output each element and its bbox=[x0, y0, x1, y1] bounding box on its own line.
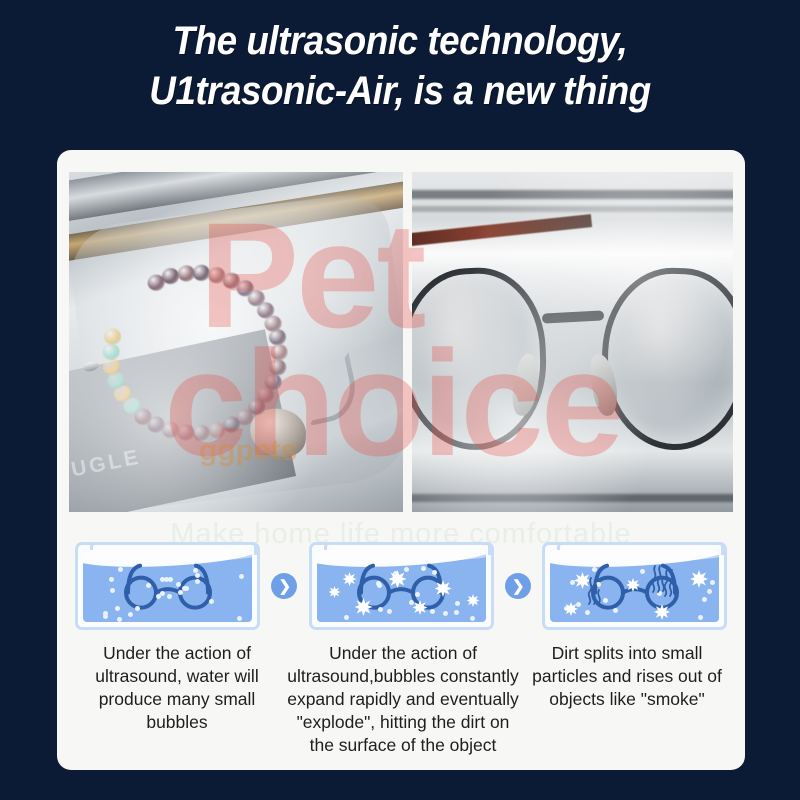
bracelet-bead bbox=[192, 424, 211, 442]
bubble-dot bbox=[195, 573, 200, 578]
caption-step-2: Under the action of ultrasound,bubbles c… bbox=[283, 642, 523, 757]
process-diagram-row: ❯ ❯ bbox=[75, 540, 727, 632]
diagram-tank-water-3 bbox=[550, 550, 719, 622]
bubble-dot bbox=[640, 569, 645, 574]
water-dark-band-2 bbox=[412, 206, 733, 212]
bubble-dot bbox=[115, 606, 120, 611]
photo-glasses-in-water bbox=[412, 172, 733, 512]
bubble-dot bbox=[128, 612, 133, 617]
bracelet-charm bbox=[249, 408, 307, 458]
smoke-wave-icon bbox=[586, 576, 602, 606]
beaded-bracelet bbox=[87, 249, 322, 470]
chevron-right-icon-1: ❯ bbox=[271, 573, 297, 599]
diagram-step-1-figure bbox=[75, 542, 260, 630]
water-dark-band-bottom bbox=[412, 494, 733, 502]
bubble-dot bbox=[585, 610, 590, 615]
bubble-dot bbox=[404, 567, 409, 572]
bracelet-bead bbox=[101, 343, 120, 361]
diagram-step-2-figure bbox=[309, 542, 494, 630]
bubble-dot bbox=[168, 577, 173, 582]
eyeglasses bbox=[412, 268, 733, 478]
exploding-bubble-icon bbox=[467, 594, 480, 607]
caption-step-3: Dirt splits into small particles and ris… bbox=[523, 642, 731, 711]
glasses-lens-right bbox=[599, 266, 733, 453]
bubble-dot bbox=[344, 615, 349, 620]
bubble-dot bbox=[110, 588, 115, 593]
exploding-bubble-icon bbox=[329, 586, 341, 598]
bubble-dot bbox=[117, 617, 122, 622]
product-poster: The ultrasonic technology, U1trasonic-Ai… bbox=[0, 0, 800, 800]
bubble-dot bbox=[707, 589, 712, 594]
chevron-right-icon-2: ❯ bbox=[505, 573, 531, 599]
photo-bracelet-in-tank: UGLE bbox=[69, 172, 403, 512]
bubble-dot bbox=[209, 599, 214, 604]
glasses-glyph-1 bbox=[114, 559, 222, 616]
page-title: The ultrasonic technology, U1trasonic-Ai… bbox=[32, 16, 768, 116]
bubble-dot bbox=[237, 616, 242, 621]
bracelet-bead bbox=[207, 421, 226, 439]
caption-row: Under the action of ultrasound, water wi… bbox=[71, 642, 731, 757]
bubble-dot bbox=[415, 592, 420, 597]
bubble-dot bbox=[239, 574, 244, 579]
bubble-dot bbox=[176, 582, 181, 587]
bubble-dot bbox=[470, 616, 475, 621]
water-dark-band-top bbox=[412, 190, 733, 199]
glasses-bridge bbox=[542, 310, 604, 323]
bubble-dot bbox=[378, 607, 383, 612]
bubble-dot bbox=[146, 583, 151, 588]
diagram-tank-water-1 bbox=[83, 550, 252, 622]
bubble-dot bbox=[443, 611, 448, 616]
bubble-dot bbox=[156, 594, 161, 599]
diagram-tank-water-2 bbox=[317, 550, 486, 622]
photo-row: UGLE bbox=[69, 172, 733, 512]
content-card: UGLE bbox=[57, 150, 745, 770]
bubble-dot bbox=[702, 597, 707, 602]
caption-step-1: Under the action of ultrasound, water wi… bbox=[71, 642, 283, 734]
smoke-wave-icon bbox=[662, 568, 678, 598]
exploding-bubble-icon bbox=[690, 570, 708, 588]
bubble-dot bbox=[454, 610, 459, 615]
bubble-dot bbox=[710, 580, 715, 585]
bracelet-bead bbox=[176, 424, 195, 442]
bubble-dot bbox=[455, 601, 460, 606]
bubble-dot bbox=[421, 566, 426, 571]
bubble-dot bbox=[164, 577, 169, 582]
bubble-dot bbox=[103, 614, 108, 619]
diagram-step-3-figure bbox=[542, 542, 727, 630]
bubble-dot bbox=[698, 615, 703, 620]
bracelet-bead bbox=[103, 328, 122, 346]
bubble-dot bbox=[387, 609, 392, 614]
